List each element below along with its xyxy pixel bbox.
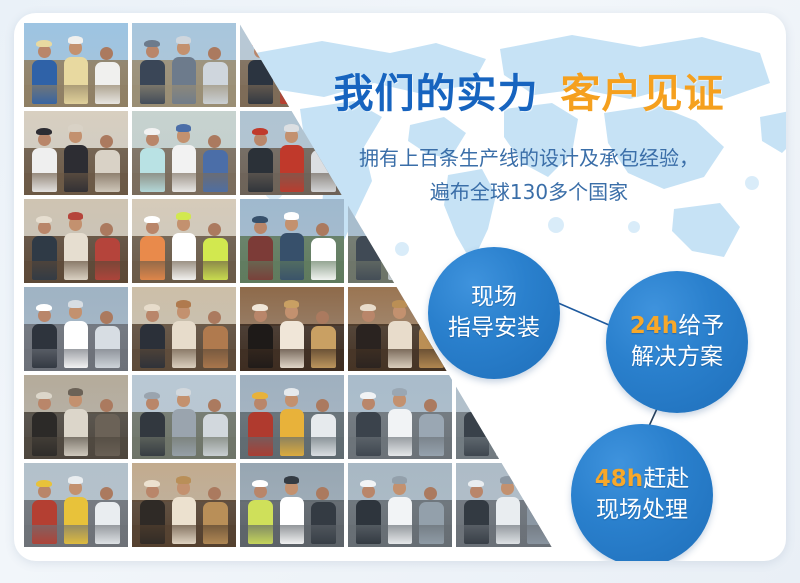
circle3-line2: 现场处理 <box>596 495 688 526</box>
photo-cell <box>24 287 128 371</box>
circle2-line2: 解决方案 <box>631 342 723 373</box>
circle1-line1: 现场 <box>471 282 517 313</box>
title-part-testimonial: 客户见证 <box>561 71 725 117</box>
photo-cell <box>132 23 236 107</box>
photo-cell <box>348 375 452 459</box>
photo-cell <box>132 287 236 371</box>
photo-cell <box>348 199 452 283</box>
photo-cell <box>24 375 128 459</box>
photo-cell <box>240 375 344 459</box>
circle3-highlight: 48h <box>595 466 643 492</box>
photo-cell <box>24 551 128 561</box>
photo-cell <box>24 111 128 195</box>
subtitle-line-2: 遍布全球130多个国家 <box>279 175 779 209</box>
banner-root: 我们的实力客户见证 拥有上百条生产线的设计及承包经验， 遍布全球130多个国家 … <box>0 0 800 583</box>
circle1-line2: 指导安装 <box>448 313 540 344</box>
circle2-line1: 24h给予 <box>630 311 724 342</box>
photo-cell <box>132 463 236 547</box>
photo-cell <box>24 23 128 107</box>
photo-cell <box>240 551 344 561</box>
photo-cell <box>348 463 452 547</box>
photo-cell <box>24 199 128 283</box>
photo-cell <box>132 375 236 459</box>
circle2-highlight: 24h <box>630 313 678 339</box>
photo-cell <box>456 551 560 561</box>
title-part-strength: 我们的实力 <box>334 71 539 117</box>
subtitle: 拥有上百条生产线的设计及承包经验， 遍布全球130多个国家 <box>279 141 779 209</box>
photo-cell <box>240 199 344 283</box>
circle-on-site-installation[interactable]: 现场 指导安装 <box>428 247 560 379</box>
circle3-line1-text: 赶赴 <box>643 466 689 492</box>
photo-cell <box>240 463 344 547</box>
photo-cell <box>132 199 236 283</box>
subtitle-line-1: 拥有上百条生产线的设计及承包经验， <box>279 141 779 175</box>
photo-cell <box>240 287 344 371</box>
photo-cell <box>456 463 560 547</box>
photo-cell <box>456 375 560 459</box>
page-title: 我们的实力客户见证 <box>269 61 786 123</box>
circle-24h-solution[interactable]: 24h给予 解决方案 <box>606 271 748 413</box>
photo-cell <box>132 551 236 561</box>
photo-cell <box>348 551 452 561</box>
photo-cell <box>132 111 236 195</box>
circle2-line1-text: 给予 <box>678 313 724 339</box>
circle-48h-onsite[interactable]: 48h赶赴 现场处理 <box>571 424 713 561</box>
circle3-line1: 48h赶赴 <box>595 464 689 495</box>
content-card: 我们的实力客户见证 拥有上百条生产线的设计及承包经验， 遍布全球130多个国家 … <box>14 13 786 561</box>
photo-cell <box>24 463 128 547</box>
